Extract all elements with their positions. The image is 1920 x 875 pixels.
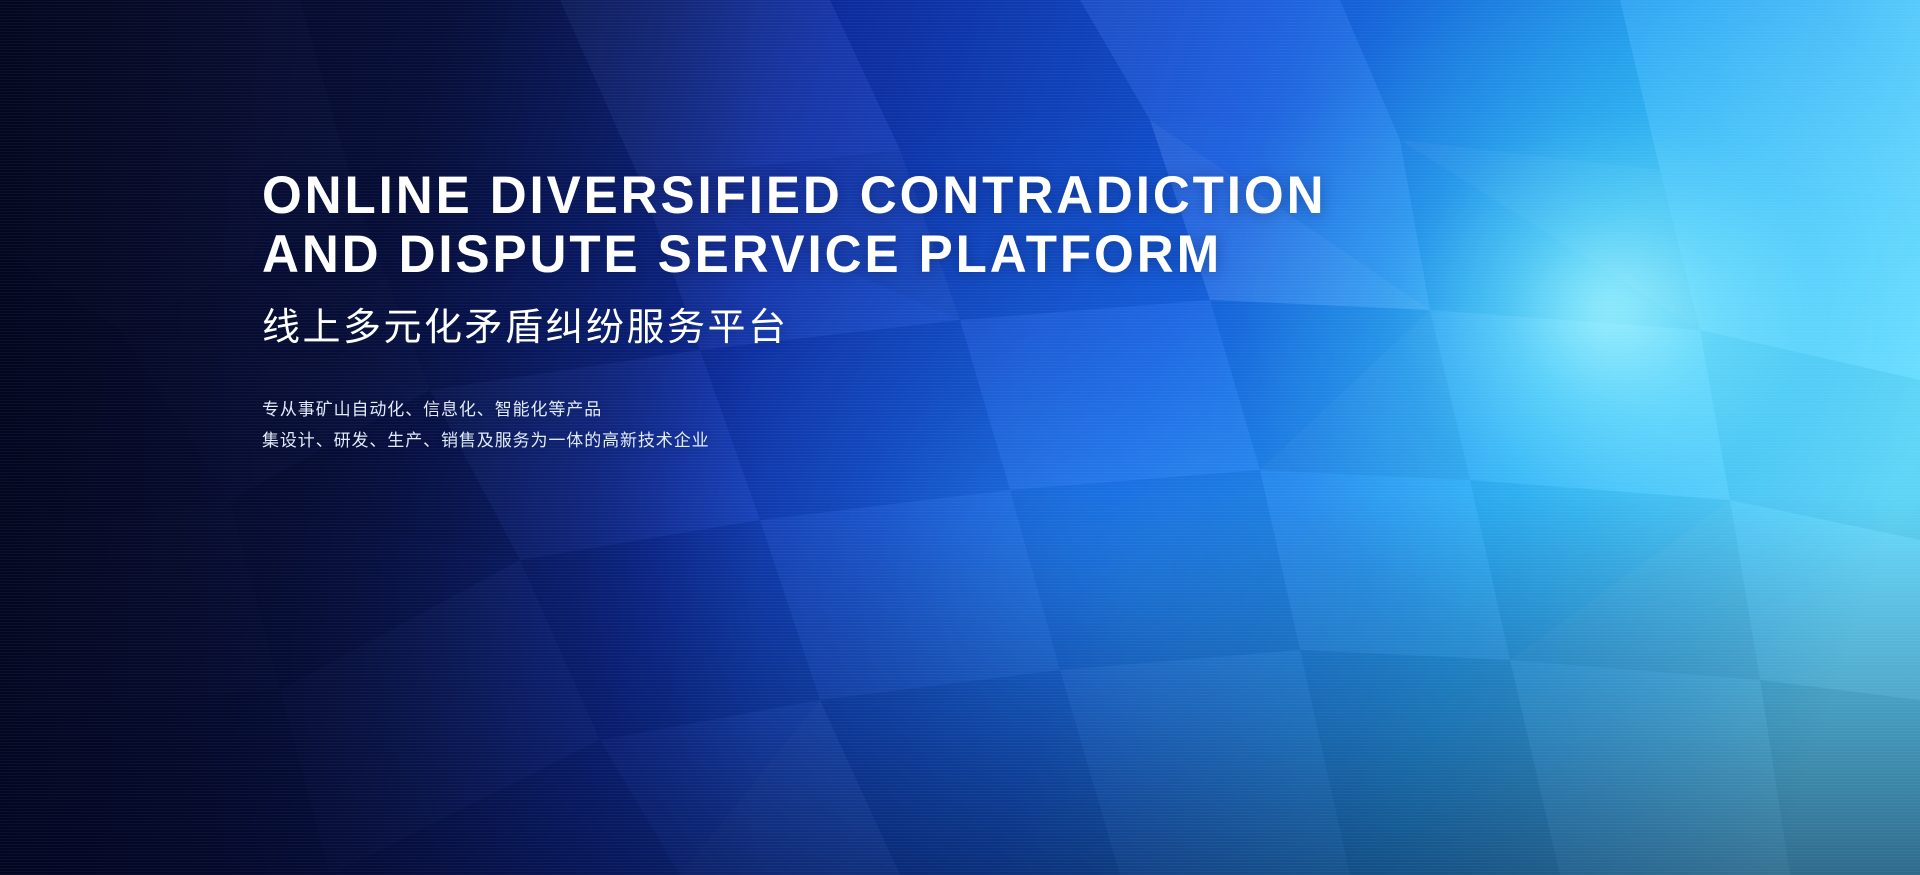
headline-line-2: AND DISPUTE SERVICE PLATFORM — [262, 225, 1401, 284]
headline-line-1: ONLINE DIVERSIFIED CONTRADICTION — [262, 166, 1401, 225]
banner-content: ONLINE DIVERSIFIED CONTRADICTION AND DIS… — [262, 166, 1442, 456]
description: 专从事矿山自动化、信息化、智能化等产品 集设计、研发、生产、销售及服务为一体的高… — [262, 394, 1442, 456]
description-line-2: 集设计、研发、生产、销售及服务为一体的高新技术企业 — [262, 425, 1442, 456]
hero-banner: ONLINE DIVERSIFIED CONTRADICTION AND DIS… — [0, 0, 1920, 875]
subtitle: 线上多元化矛盾纠纷服务平台 — [262, 306, 1442, 350]
headline: ONLINE DIVERSIFIED CONTRADICTION AND DIS… — [262, 166, 1401, 284]
description-line-1: 专从事矿山自动化、信息化、智能化等产品 — [262, 394, 1442, 425]
